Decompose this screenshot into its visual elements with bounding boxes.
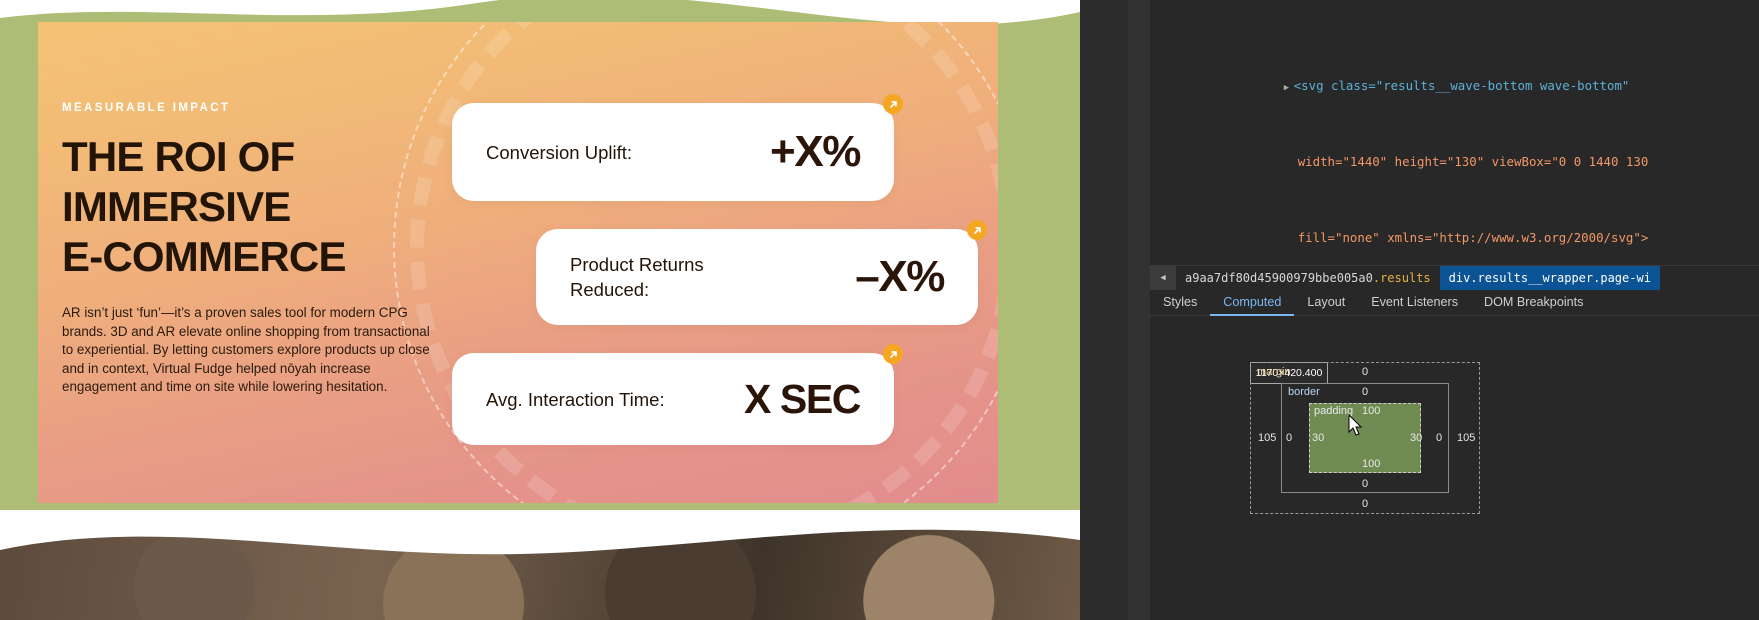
- border-left-value[interactable]: 0: [1286, 432, 1292, 444]
- padding-right-value[interactable]: 30: [1410, 432, 1422, 444]
- devtools-panel: ▶<svg class="results__wave-bottom wave-b…: [1128, 0, 1759, 620]
- wave-bottom-decoration: [0, 510, 1080, 620]
- results-content: AR isn’t just ‘fun’—it’s a proven sales …: [62, 304, 442, 397]
- page-footer-image: [0, 510, 1080, 620]
- screen: MEASURABLE IMPACT THE ROI OF IMMERSIVE E…: [0, 0, 1759, 620]
- tab-computed[interactable]: Computed: [1210, 289, 1294, 316]
- breadcrumb-item-label: a9aa7df80d45900979bbe005a0: [1185, 271, 1373, 285]
- margin-right-value[interactable]: 105: [1457, 432, 1475, 444]
- stat-card-value: +X%: [770, 127, 860, 177]
- dom-row[interactable]: ▶<svg class="results__wave-bottom wave-b…: [1150, 57, 1759, 76]
- stat-card[interactable]: Conversion Uplift: +X%: [452, 103, 894, 201]
- box-model-border-label: border: [1288, 386, 1320, 398]
- stat-card-value: X SEC: [744, 376, 860, 423]
- breadcrumb-item-active[interactable]: div.results__wrapper.page-wi: [1440, 266, 1660, 290]
- dom-line-text: <svg class="results__wave-bottom wave-bo…: [1294, 78, 1630, 93]
- title-line-2: IMMERSIVE: [62, 183, 291, 230]
- border-top-value[interactable]: 0: [1362, 386, 1368, 398]
- tab-styles[interactable]: Styles: [1150, 289, 1210, 316]
- results-subtitle: MEASURABLE IMPACT: [62, 102, 462, 114]
- chevron-left-icon[interactable]: ◀: [1150, 266, 1176, 290]
- arrow-up-right-icon[interactable]: [883, 344, 903, 364]
- results-head: MEASURABLE IMPACT THE ROI OF IMMERSIVE E…: [62, 102, 462, 397]
- padding-top-value[interactable]: 100: [1362, 405, 1380, 417]
- box-model-padding-label: padding: [1314, 405, 1353, 417]
- stat-card-value: –X%: [855, 252, 944, 302]
- tab-event-listeners[interactable]: Event Listeners: [1358, 289, 1471, 316]
- stat-card-label: Product Returns Reduced:: [570, 252, 755, 302]
- devtools-gutter: [1128, 0, 1150, 620]
- margin-bottom-value[interactable]: 0: [1362, 498, 1368, 510]
- dom-line-text: fill="none" xmlns="http://www.w3.org/200…: [1298, 230, 1649, 245]
- margin-left-value[interactable]: 105: [1258, 432, 1276, 444]
- margin-top-value[interactable]: 0: [1362, 366, 1368, 378]
- panel-splitter[interactable]: [1080, 0, 1128, 620]
- border-right-value[interactable]: 0: [1436, 432, 1442, 444]
- breadcrumb-item-label: div.results__wrapper.page-wi: [1449, 271, 1651, 285]
- dom-row: width="1440" height="130" viewBox="0 0 1…: [1150, 133, 1759, 152]
- title-line-3: E-COMMERCE: [62, 233, 346, 280]
- dom-breadcrumb: ◀ a9aa7df80d45900979bbe005a0.results div…: [1150, 265, 1759, 289]
- tab-layout[interactable]: Layout: [1294, 289, 1358, 316]
- padding-left-value[interactable]: 30: [1312, 432, 1324, 444]
- tab-dom-breakpoints[interactable]: DOM Breakpoints: [1471, 289, 1596, 316]
- dom-line-text: width="1440" height="130" viewBox="0 0 1…: [1298, 154, 1649, 169]
- title-line-1: THE ROI OF: [62, 133, 294, 180]
- results-title: THE ROI OF IMMERSIVE E-COMMERCE: [62, 132, 462, 282]
- arrow-up-right-icon[interactable]: [967, 220, 987, 240]
- breadcrumb-item[interactable]: a9aa7df80d45900979bbe005a0.results: [1176, 266, 1440, 290]
- stat-card[interactable]: Avg. Interaction Time: X SEC: [452, 353, 894, 445]
- stat-card-label: Avg. Interaction Time:: [486, 387, 665, 412]
- box-model-margin-label: margin: [1257, 366, 1291, 378]
- breadcrumb-item-class: .results: [1373, 271, 1431, 285]
- devtools-tabbar: Styles Computed Layout Event Listeners D…: [1150, 289, 1759, 316]
- stat-card-label: Conversion Uplift:: [486, 140, 632, 165]
- results-wrapper: MEASURABLE IMPACT THE ROI OF IMMERSIVE E…: [38, 22, 998, 503]
- dom-tree: ▶<svg class="results__wave-bottom wave-b…: [1150, 0, 1759, 262]
- browser-viewport: MEASURABLE IMPACT THE ROI OF IMMERSIVE E…: [0, 0, 1080, 620]
- stat-card[interactable]: Product Returns Reduced: –X%: [536, 229, 978, 325]
- padding-bottom-value[interactable]: 100: [1362, 458, 1380, 470]
- stat-card-list: Conversion Uplift: +X% Product Returns R…: [452, 103, 982, 463]
- border-bottom-value[interactable]: 0: [1362, 478, 1368, 490]
- arrow-up-right-icon[interactable]: [883, 94, 903, 114]
- dom-row: fill="none" xmlns="http://www.w3.org/200…: [1150, 209, 1759, 228]
- box-model-diagram: 1170×420.400 margin border padding 0 0 1…: [1250, 362, 1480, 514]
